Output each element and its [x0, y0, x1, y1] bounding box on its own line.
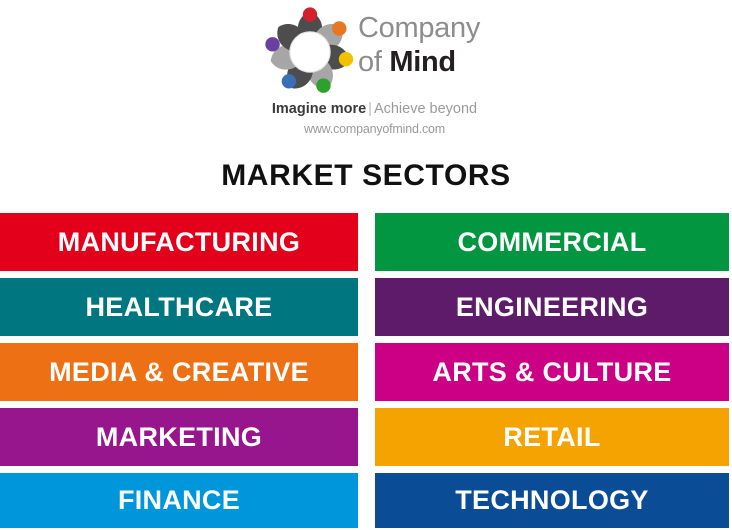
sector-row: FINANCE TECHNOLOGY	[0, 473, 732, 528]
sector-tile-retail[interactable]: RETAIL	[375, 408, 729, 466]
market-sectors-grid: MANUFACTURING COMMERCIAL HEALTHCARE ENGI…	[0, 213, 732, 530]
sector-tile-commercial[interactable]: COMMERCIAL	[375, 213, 729, 271]
sector-tile-media-and-creative[interactable]: MEDIA & CREATIVE	[0, 343, 358, 401]
logo-tagline: Imagine more|Achieve beyond	[262, 102, 487, 118]
tagline-rest: Achieve beyond	[374, 101, 477, 117]
logo-name-line1: Company	[358, 14, 488, 43]
page-title: MARKET SECTORS	[0, 159, 732, 193]
sector-row: MANUFACTURING COMMERCIAL	[0, 213, 732, 271]
sector-tile-arts-and-culture[interactable]: ARTS & CULTURE	[375, 343, 729, 401]
sector-tile-manufacturing[interactable]: MANUFACTURING	[0, 213, 358, 271]
logo-website-url: www.companyofmind.com	[262, 122, 487, 136]
sector-tile-marketing[interactable]: MARKETING	[0, 408, 358, 466]
sector-row: MEDIA & CREATIVE ARTS & CULTURE	[0, 343, 732, 401]
sector-tile-healthcare[interactable]: HEALTHCARE	[0, 278, 358, 336]
tagline-bold: Imagine more	[272, 101, 366, 117]
logo-name-mind: Mind	[389, 46, 455, 78]
logo-name-line2: of Mind	[358, 48, 488, 77]
sector-tile-finance[interactable]: FINANCE	[0, 473, 358, 528]
sector-tile-technology[interactable]: TECHNOLOGY	[375, 473, 729, 528]
logo-wordmark: Company of Mind	[358, 14, 488, 77]
sector-row: MARKETING RETAIL	[0, 408, 732, 466]
logo-header: Company of Mind Imagine more|Achieve bey…	[0, 0, 732, 148]
pinwheel-people-icon	[262, 4, 358, 100]
logo-name-of: of	[358, 46, 389, 78]
company-logo: Company of Mind Imagine more|Achieve bey…	[262, 2, 487, 142]
tagline-separator: |	[366, 101, 374, 117]
sector-row: HEALTHCARE ENGINEERING	[0, 278, 732, 336]
sector-tile-engineering[interactable]: ENGINEERING	[375, 278, 729, 336]
